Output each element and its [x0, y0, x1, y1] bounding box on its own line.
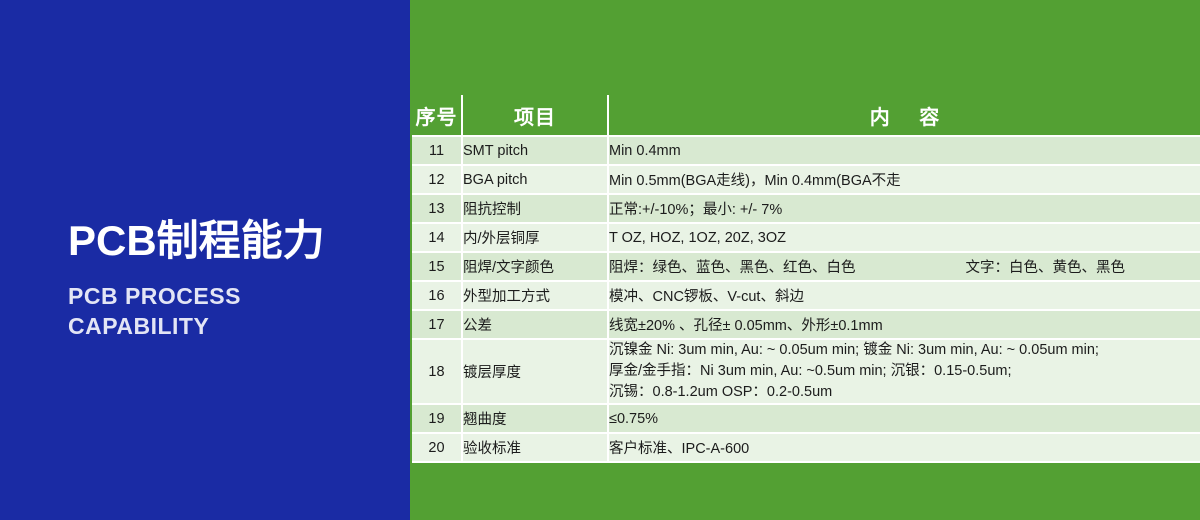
title-block: PCB制程能力 PCB PROCESS CAPABILITY [68, 218, 398, 342]
row-content-line: 厚金/金手指：Ni 3um min, Au: ~0.5um min; 沉银：0.… [609, 361, 1200, 382]
row-number: 18 [412, 339, 462, 404]
column-header-item: 项目 [462, 95, 608, 136]
spec-table-body: 11 SMT pitch Min 0.4mm 12 BGA pitch Min … [412, 136, 1200, 462]
table-row: 15 阻焊/文字颜色 阻焊：绿色、蓝色、黑色、红色、白色 文字：白色、黄色、黑色 [412, 252, 1200, 281]
table-row: 14 内/外层铜厚 T OZ, HOZ, 1OZ, 20Z, 3OZ [412, 223, 1200, 252]
row-item: SMT pitch [462, 136, 608, 165]
row-item: 外型加工方式 [462, 281, 608, 310]
row-item: 公差 [462, 310, 608, 339]
row-content: ≤0.75% [608, 404, 1200, 433]
row-content-line: 沉镍金 Ni: 3um min, Au: ~ 0.05um min; 镀金 Ni… [609, 340, 1200, 361]
header-row: 序号 项目 内 容 [412, 95, 1200, 136]
row-item: BGA pitch [462, 165, 608, 194]
row-content: 模冲、CNC锣板、V-cut、斜边 [608, 281, 1200, 310]
page-title-en: PCB PROCESS CAPABILITY [68, 282, 398, 342]
row-content: Min 0.5mm(BGA走线)，Min 0.4mm(BGA不走 [608, 165, 1200, 194]
row-number: 17 [412, 310, 462, 339]
row-content: 正常:+/-10%；最小: +/- 7% [608, 194, 1200, 223]
column-header-no: 序号 [412, 95, 462, 136]
page-title-en-line2: CAPABILITY [68, 312, 398, 342]
row-number: 15 [412, 252, 462, 281]
row-content: 客户标准、IPC-A-600 [608, 433, 1200, 462]
row-content: T OZ, HOZ, 1OZ, 20Z, 3OZ [608, 223, 1200, 252]
table-row: 12 BGA pitch Min 0.5mm(BGA走线)，Min 0.4mm(… [412, 165, 1200, 194]
row-content-primary: 阻焊：绿色、蓝色、黑色、红色、白色 [609, 256, 856, 277]
table-row: 13 阻抗控制 正常:+/-10%；最小: +/- 7% [412, 194, 1200, 223]
row-number: 12 [412, 165, 462, 194]
row-content-line: 沉锡：0.8-1.2um OSP：0.2-0.5um [609, 382, 1200, 403]
row-content: 线宽±20% 、孔径± 0.05mm、外形±0.1mm [608, 310, 1200, 339]
row-number: 11 [412, 136, 462, 165]
row-content-secondary: 文字：白色、黄色、黑色 [966, 256, 1126, 277]
title-panel: PCB制程能力 PCB PROCESS CAPABILITY [0, 0, 410, 520]
table-row: 16 外型加工方式 模冲、CNC锣板、V-cut、斜边 [412, 281, 1200, 310]
table-row: 20 验收标准 客户标准、IPC-A-600 [412, 433, 1200, 462]
row-number: 14 [412, 223, 462, 252]
row-content: Min 0.4mm [608, 136, 1200, 165]
row-item: 阻抗控制 [462, 194, 608, 223]
page-title-en-line1: PCB PROCESS [68, 282, 398, 312]
row-item: 阻焊/文字颜色 [462, 252, 608, 281]
row-number: 16 [412, 281, 462, 310]
spec-table: 序号 项目 内 容 11 SMT pitch Min 0.4mm 12 BGA … [412, 95, 1200, 463]
row-content: 沉镍金 Ni: 3um min, Au: ~ 0.05um min; 镀金 Ni… [608, 339, 1200, 404]
row-item: 内/外层铜厚 [462, 223, 608, 252]
spec-table-wrapper: 序号 项目 内 容 11 SMT pitch Min 0.4mm 12 BGA … [412, 95, 1200, 463]
table-row: 11 SMT pitch Min 0.4mm [412, 136, 1200, 165]
column-header-content: 内 容 [608, 95, 1200, 136]
table-row: 17 公差 线宽±20% 、孔径± 0.05mm、外形±0.1mm [412, 310, 1200, 339]
row-number: 13 [412, 194, 462, 223]
row-item: 验收标准 [462, 433, 608, 462]
row-item: 翘曲度 [462, 404, 608, 433]
slide-canvas: PCB制程能力 PCB PROCESS CAPABILITY 序号 项目 内 容 [0, 0, 1200, 520]
spec-table-head: 序号 项目 内 容 [412, 95, 1200, 136]
row-number: 19 [412, 404, 462, 433]
table-row: 18 镀层厚度 沉镍金 Ni: 3um min, Au: ~ 0.05um mi… [412, 339, 1200, 404]
table-row: 19 翘曲度 ≤0.75% [412, 404, 1200, 433]
row-item: 镀层厚度 [462, 339, 608, 404]
page-title-cn: PCB制程能力 [68, 218, 398, 264]
row-number: 20 [412, 433, 462, 462]
row-content: 阻焊：绿色、蓝色、黑色、红色、白色 文字：白色、黄色、黑色 [608, 252, 1200, 281]
